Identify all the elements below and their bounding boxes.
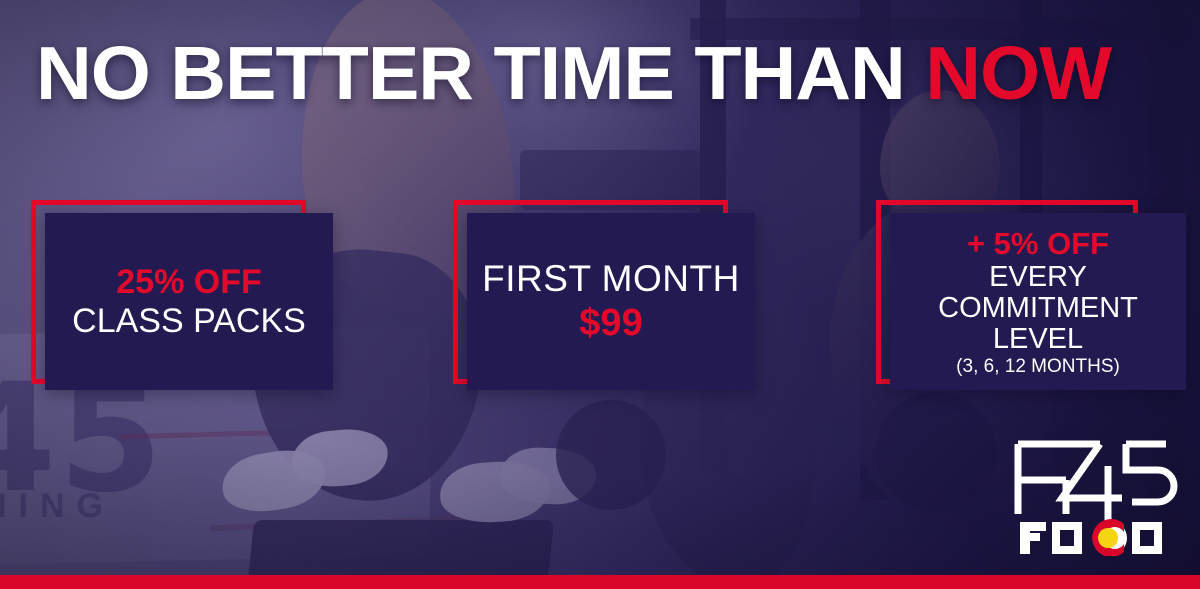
offer-card-panel: + 5% OFF EVERY COMMITMENT LEVEL (3, 6, 1… [890,213,1186,390]
page-title: NO BETTER TIME THAN NOW [36,36,1111,111]
f45-foco-logo[interactable] [1004,436,1180,556]
offer-label-line-2: COMMITMENT [938,293,1138,324]
offer-label-line-1: EVERY [989,262,1087,293]
offer-discount: 25% OFF [116,264,261,301]
offer-card-panel: FIRST MONTH $99 [467,213,755,390]
offer-label: FIRST MONTH [482,259,740,299]
promo-banner: 45 NING NO BETTER TIME THAN NOW 25% OFF … [0,0,1200,589]
headline-main: NO BETTER TIME THAN [36,31,925,115]
offer-label-line-3: LEVEL [993,324,1083,355]
f45-foco-logo-icon [1004,436,1180,556]
offer-label: CLASS PACKS [72,303,306,340]
bottom-accent-bar [0,575,1200,589]
offer-card-panel: 25% OFF CLASS PACKS [45,213,333,390]
headline-accent: NOW [925,31,1111,115]
offer-discount: + 5% OFF [967,227,1109,260]
offer-terms: (3, 6, 12 MONTHS) [956,357,1120,378]
offer-price: $99 [579,303,642,344]
